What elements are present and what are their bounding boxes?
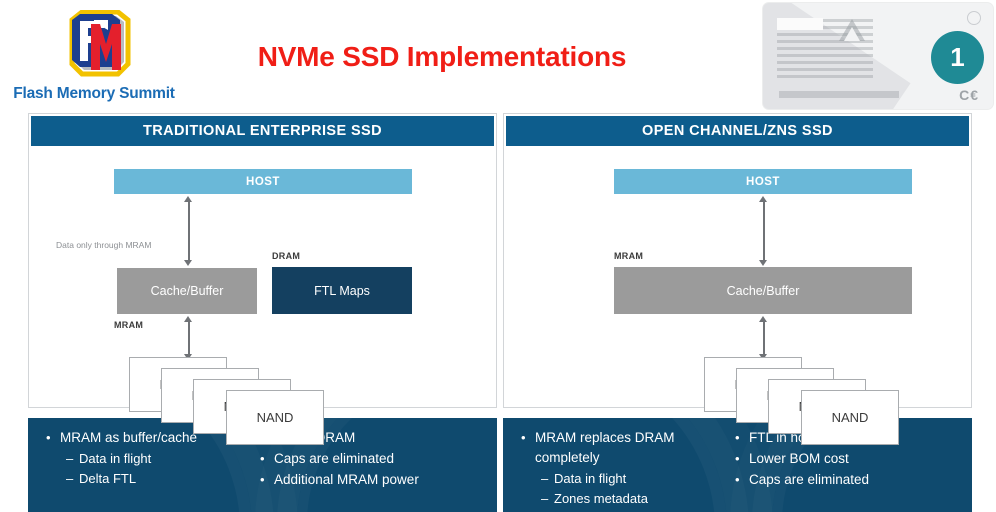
arrow-host-cache-shaft-right [763,200,765,262]
list-item: • Additional MRAM power [260,470,485,490]
bullet-marker-icon: • [260,470,274,489]
host-box-left: HOST [114,169,412,194]
panel-header-traditional: TRADITIONAL ENTERPRISE SSD [31,116,494,146]
bullets-open-channel: • MRAM replaces DRAM completely – Data i… [503,418,972,512]
bullet-text: Caps are eliminated [749,470,960,490]
list-item: – Delta FTL [46,469,260,488]
panel-header-open-channel: OPEN CHANNEL/ZNS SSD [506,116,969,146]
panel-traditional-enterprise-ssd: TRADITIONAL ENTERPRISE SSD HOST Data onl… [28,113,497,408]
bullet-text: MRAM replaces DRAM completely [535,428,735,468]
arrow-head-down-cache [184,260,192,266]
photo-bottom-text [779,91,899,98]
bullet-text: Data in flight [554,469,735,488]
warning-triangle-inner [844,27,860,41]
flash-memory-summit-logo: Flash Memory Summit [8,6,180,106]
nand-box-right-4: NAND [801,390,899,445]
list-item: – Data in flight [521,469,735,488]
arrow-host-cache-shaft [188,200,190,262]
list-item: • Lower BOM cost [735,449,960,469]
panel-open-channel-zns-ssd: OPEN CHANNEL/ZNS SSD HOST MRAM Cache/Buf… [503,113,972,408]
host-box-right: HOST [614,169,912,194]
bullet-marker-icon: – [541,469,554,488]
list-item: – Zones metadata [521,489,735,508]
bullet-text: Lower BOM cost [749,449,960,469]
ce-mark-icon: C€ [959,87,979,103]
arrow-head-up-host-right [759,196,767,202]
photo-label-white-strip [777,18,823,30]
bullet-marker-icon: – [541,489,554,508]
bullet-text: Additional MRAM power [274,470,485,490]
page-title: NVMe SSD Implementations [196,41,688,73]
nand-box-4: NAND [226,390,324,445]
list-item: – Data in flight [46,449,260,468]
bullet-marker-icon: • [260,449,274,468]
bullet-text: Delta FTL [79,469,260,488]
slide-header: Flash Memory Summit NVMe SSD Implementat… [0,0,996,110]
bullet-text: Caps are eliminated [274,449,485,469]
bullet-marker-icon: – [66,449,79,468]
screw-hole-icon [967,11,981,25]
ftl-maps-box: FTL Maps [272,267,412,314]
mram-label-left: MRAM [114,320,143,330]
dram-label-left: DRAM [272,251,300,261]
slide-number-badge: 1 [931,31,984,84]
bullet-column-right-1: • MRAM replaces DRAM completely – Data i… [521,428,735,512]
arrow-head-up-host [184,196,192,202]
arrow-cache-nand-shaft-right [763,320,765,356]
list-item: • Caps are eliminated [735,470,960,490]
diagram-open-channel: HOST MRAM Cache/Buffer NAND NAND NAND NA… [504,146,971,407]
list-item: • Caps are eliminated [260,449,485,469]
bullet-marker-icon: • [735,428,749,447]
arrow-head-down-cache-right [759,260,767,266]
bullet-marker-icon: • [735,470,749,489]
diagram-traditional: HOST Data only through MRAM Cache/Buffer… [29,146,496,407]
list-item: • MRAM replaces DRAM completely [521,428,735,468]
arrow-head-up-cache-right [759,316,767,322]
data-path-note-left: Data only through MRAM [56,240,151,250]
cache-buffer-box-right: Cache/Buffer [614,267,912,314]
bullet-marker-icon: – [66,469,79,488]
bullet-text: Data in flight [79,449,260,468]
arrow-cache-nand-shaft [188,320,190,356]
bullet-marker-icon: • [735,449,749,468]
fms-logo-mark [60,10,140,84]
bullet-marker-icon: • [46,428,60,447]
fms-wordmark: Flash Memory Summit [8,85,180,103]
mram-label-right: MRAM [614,251,643,261]
arrow-head-up-cache [184,316,192,322]
bullet-text: Zones metadata [554,489,735,508]
bullet-marker-icon: • [521,428,535,447]
cache-buffer-box-left: Cache/Buffer [117,268,257,314]
